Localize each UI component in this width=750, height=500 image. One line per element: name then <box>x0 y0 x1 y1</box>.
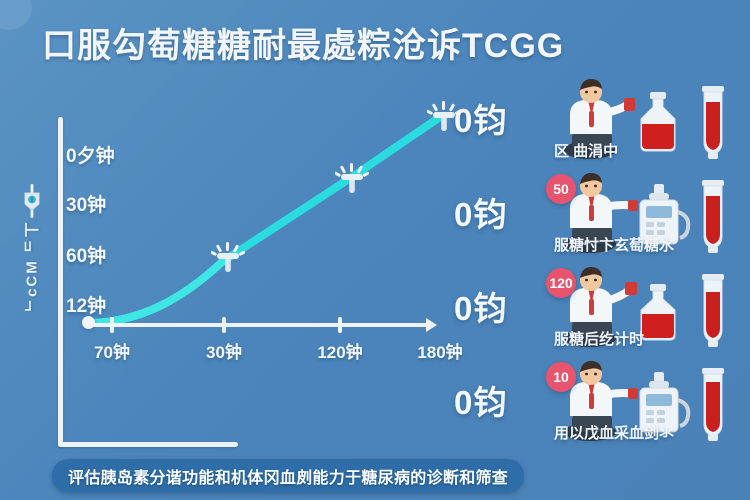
burst-star-icon <box>335 162 369 196</box>
row-caption: 服糖后纥计时 <box>554 328 744 349</box>
status-badge: 120 <box>546 268 576 298</box>
x-tick-mark-2 <box>338 317 342 333</box>
footer-text: 评估胰岛素分谐功能和机体冈血㓟能力于糖尿病的诊断和筛查 <box>68 464 508 488</box>
glucose-curve-line <box>92 117 440 323</box>
x-tick-0: 70钟 <box>94 338 130 363</box>
row-caption: 区 曲涓中 <box>554 140 744 161</box>
decor-corner-circle <box>0 0 32 30</box>
row-caption: 用以戊血采血剑氺 <box>554 422 744 443</box>
glucose-curve-segment-1 <box>92 262 222 323</box>
poster-canvas: 口服勾萄糖糖耐最處粽沧诉TCGG ᄂcCM ᄃ丅 0夕钟 30钟 60钟 12钟 <box>0 0 750 500</box>
row-value: 0钧 <box>454 188 507 236</box>
chart-plot-area <box>0 95 470 465</box>
status-badge: 10 <box>546 362 576 392</box>
row-value: 0钧 <box>454 94 507 142</box>
chart-x-axis-line <box>88 323 428 327</box>
x-tick-mark-0 <box>110 317 114 333</box>
x-tick-mark-1 <box>222 317 226 333</box>
row-value: 0钧 <box>454 282 507 330</box>
page-title: 口服勾萄糖糖耐最處粽沧诉TCGG <box>42 18 564 67</box>
list-item[interactable]: 0钧 10 <box>450 360 750 454</box>
x-tick-1: 30钟 <box>206 338 242 363</box>
x-tick-2: 120钟 <box>317 338 362 363</box>
list-item[interactable]: 0钧 <box>450 78 750 172</box>
chart-region: ᄂcCM ᄃ丅 0夕钟 30钟 60钟 12钟 70钟 30钟 120钟 180… <box>0 95 470 465</box>
list-item[interactable]: 0钧 120 <box>450 266 750 360</box>
step-list: 0钧 <box>450 78 750 454</box>
row-caption: 服糖忖卞玄萄糖水 <box>554 234 744 255</box>
footer-banner: 评估胰岛素分谐功能和机体冈血㓟能力于糖尿病的诊断和筛查 <box>52 459 524 492</box>
status-badge: 50 <box>546 174 576 204</box>
list-item[interactable]: 0钧 50 <box>450 172 750 266</box>
burst-star-icon <box>211 241 245 275</box>
row-value: 0钧 <box>454 376 507 424</box>
